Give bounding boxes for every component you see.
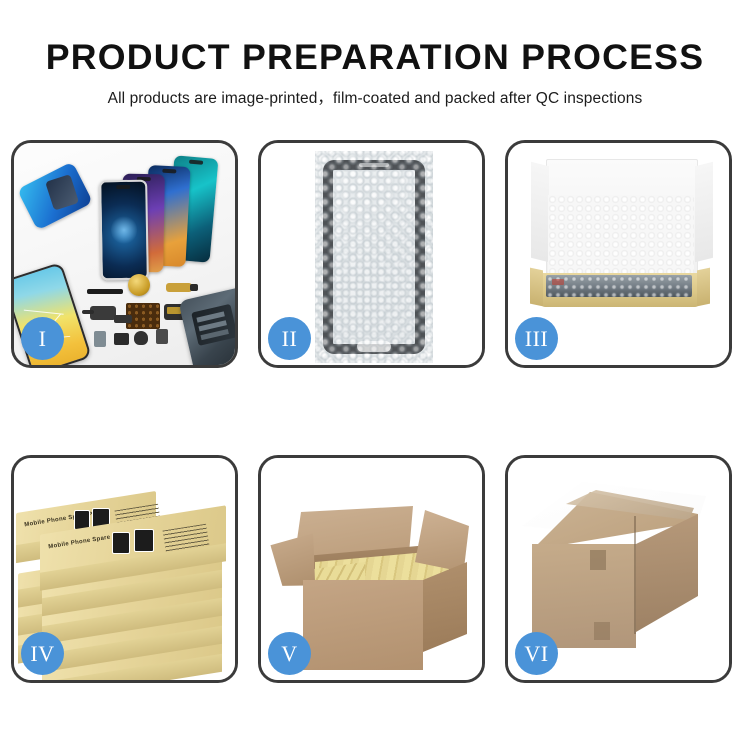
wrapped-part-in-box-icon [546, 275, 692, 297]
foam-padding-icon [548, 195, 694, 277]
carton-tab-icon [590, 550, 606, 570]
phone-black-front-glass-icon [99, 180, 149, 281]
process-step-panel-6: VI [505, 455, 732, 683]
button-flex-cable-icon [166, 283, 192, 292]
blue-adhesive-film-icon [17, 161, 93, 230]
small-part-icon [114, 333, 129, 345]
step-badge-6: VI [515, 632, 558, 675]
process-steps-grid: I II III [11, 140, 739, 683]
small-part-icon [114, 315, 132, 323]
carton-front-face-icon [303, 580, 423, 670]
product-preparation-process-page: PRODUCT PREPARATION PROCESS All products… [0, 0, 750, 750]
step-badge-3: III [515, 317, 558, 360]
carton-right-face-icon [636, 514, 698, 632]
carton-tab-icon [594, 622, 610, 640]
step-badge-1: I [21, 317, 64, 360]
camera-flex-icon [90, 306, 116, 320]
carton-front-face-icon [532, 544, 636, 648]
page-header: PRODUCT PREPARATION PROCESS All products… [0, 0, 750, 109]
bubble-overlay-icon [315, 151, 433, 363]
black-connector-strip-icon [87, 289, 123, 294]
stacked-box-top-front-icon: Mobile Phone Spare Parts [40, 520, 226, 560]
process-step-panel-1: I [11, 140, 238, 368]
phone-fan-group [92, 157, 232, 275]
step-badge-2: II [268, 317, 311, 360]
carton-edge-icon [634, 516, 636, 634]
page-title: PRODUCT PREPARATION PROCESS [0, 0, 750, 78]
small-part-icon [134, 331, 148, 345]
gold-speaker-coil-icon [128, 274, 150, 296]
process-step-panel-3: III [505, 140, 732, 368]
small-part-icon [156, 329, 168, 344]
phone-logic-board-icon [178, 287, 235, 365]
small-part-icon [94, 331, 106, 347]
process-step-panel-4: Mobile Phone Spare Parts Mobile Phone Sp… [11, 455, 238, 683]
carton-right-flap-icon [415, 510, 469, 572]
step-badge-4: IV [21, 632, 64, 675]
page-subtitle: All products are image-printed，film-coat… [0, 78, 750, 109]
step-badge-5: V [268, 632, 311, 675]
process-step-panel-5: V [258, 455, 485, 683]
process-step-panel-2: II [258, 140, 485, 368]
bubble-wrap-sheet-icon [315, 151, 433, 363]
